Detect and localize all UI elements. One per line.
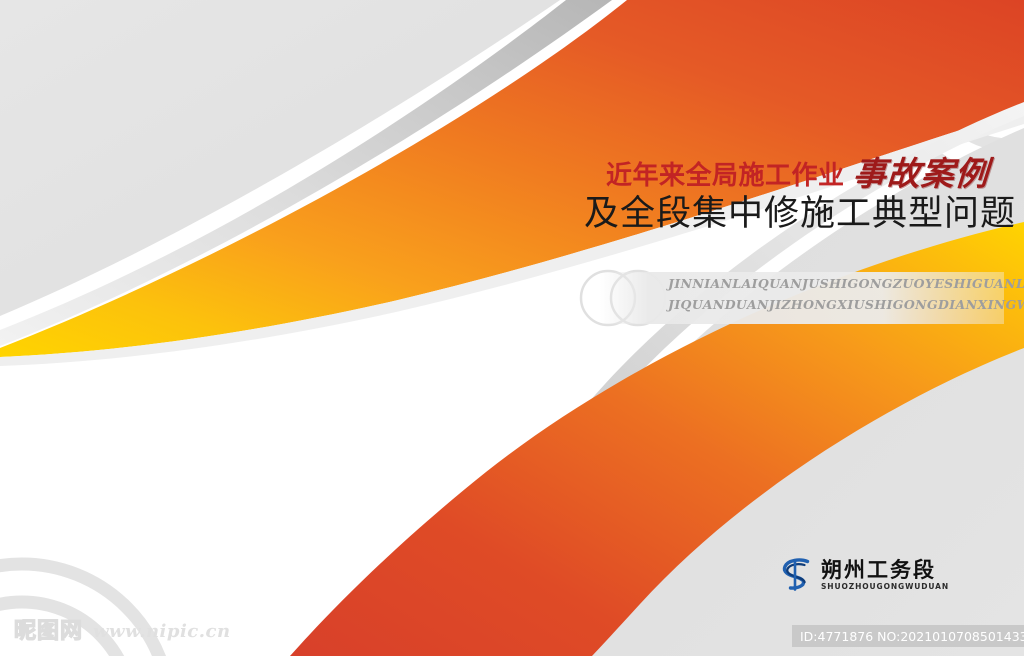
company-logo: 朔州工务段 SHUOZHOUGONGWUDUAN <box>780 556 949 594</box>
title-line-one: 近年来全局施工作业 事故案例 <box>606 158 1004 189</box>
pinyin-line-two: JIQUANDUANJIZHONGXIUSHIGONGDIANXINGWENTI <box>668 295 1008 316</box>
pinyin-line-one: JINNIANLAIQUANJUSHIGONGZUOYESHIGUANLI <box>668 274 1008 295</box>
watermark-site-url: www.nipic.cn <box>93 623 231 641</box>
title-accent-text: 事故案例 <box>851 158 989 189</box>
swirl-s-icon <box>780 556 814 594</box>
poster-canvas: 近年来全局施工作业 事故案例 及全段集中修施工典型问题 JINNIANLAIQU… <box>0 0 1024 656</box>
watermark-site-name: 昵图网 <box>14 621 83 643</box>
logo-company-pinyin: SHUOZHOUGONGWUDUAN <box>821 582 949 591</box>
logo-company-name: 朔州工务段 <box>821 559 949 581</box>
asset-id-label: ID:4771876 NO:20210107085014330085 <box>800 629 1024 644</box>
asset-id-bar: ID:4771876 NO:20210107085014330085 <box>792 625 1024 647</box>
logo-text-group: 朔州工务段 SHUOZHOUGONGWUDUAN <box>821 559 949 591</box>
pinyin-block: JINNIANLAIQUANJUSHIGONGZUOYESHIGUANLI JI… <box>668 274 1008 315</box>
nipic-watermark: 昵图网 www.nipic.cn <box>14 621 231 643</box>
title-main-text: 近年来全局施工作业 <box>606 163 845 189</box>
title-subtitle-text: 及全段集中修施工典型问题 <box>584 195 1004 234</box>
title-block: 近年来全局施工作业 事故案例 及全段集中修施工典型问题 <box>584 158 1004 234</box>
